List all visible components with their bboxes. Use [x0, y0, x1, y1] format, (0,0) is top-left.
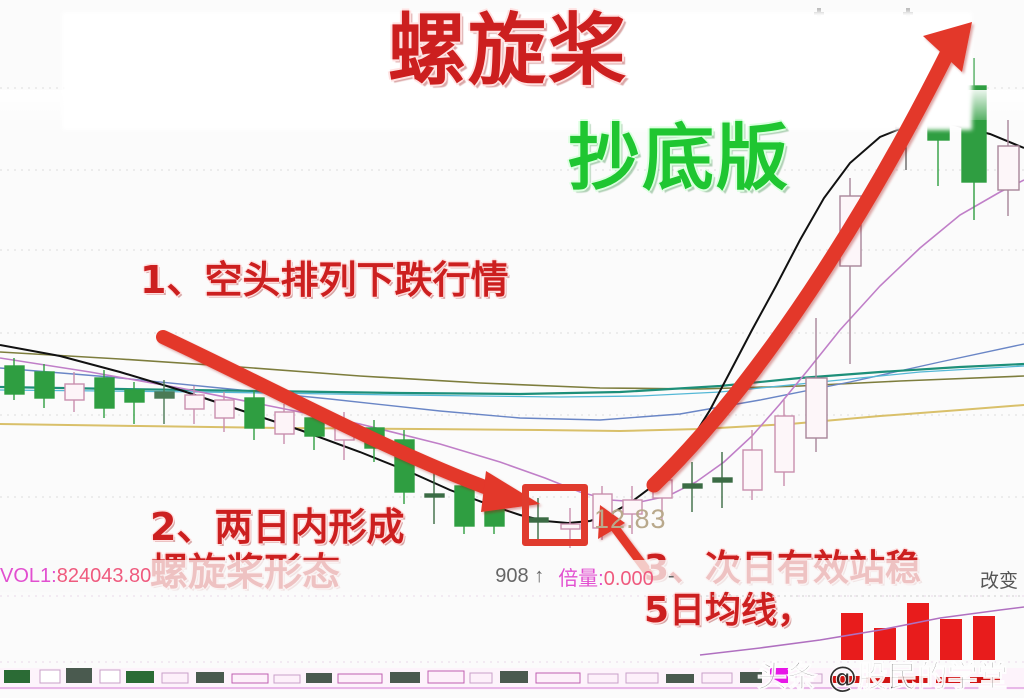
- price-label: 12.83: [594, 504, 667, 535]
- chart-status-bar: VOL1:824043.80 908 ↑ 倍量:0.000 -: [0, 560, 1024, 592]
- candle: [275, 404, 294, 444]
- annotation-2-line1: 2、两日内形成: [150, 505, 404, 550]
- candle: [840, 178, 861, 364]
- candle: [305, 410, 324, 450]
- candle: [683, 462, 702, 512]
- ma10-line: [0, 180, 1024, 502]
- candle: [155, 380, 174, 424]
- ma30-line: [0, 364, 1024, 394]
- count-value: 908: [495, 565, 528, 587]
- candle: [125, 382, 144, 424]
- screenshot-canvas: 螺旋桨 抄底版 12.83 1、空头排列下跌行情 2、两日内形成 螺旋桨形: [0, 0, 1024, 698]
- statusbar-right-text: 改变: [980, 566, 1018, 593]
- candle: [713, 452, 732, 508]
- ma5-line: [0, 124, 1024, 523]
- count-indicator: 908 ↑: [495, 565, 544, 588]
- candle: [998, 120, 1019, 216]
- volume-label: VOL1:: [0, 565, 57, 587]
- candle: [35, 364, 54, 408]
- candle: [395, 430, 414, 504]
- candle: [455, 478, 474, 534]
- page-title-sub: 抄底版: [568, 122, 790, 194]
- volume-indicator: VOL1:824043.80: [0, 565, 151, 588]
- annotation-1-text: 1、空头排列下跌行情: [140, 258, 508, 303]
- candle: [365, 420, 384, 462]
- candle: [245, 390, 264, 440]
- candle: [215, 392, 234, 432]
- down-trend-arrow: [163, 337, 540, 512]
- ma120-line: [0, 352, 1024, 389]
- statusbar-dash: -: [668, 565, 675, 588]
- pattern-highlight-box: [522, 484, 588, 546]
- up-arrow-icon: ↑: [534, 565, 544, 587]
- multiplier-label: 倍量:: [558, 568, 604, 590]
- candle: [775, 400, 794, 486]
- candle: [743, 430, 762, 500]
- candle: [806, 318, 827, 452]
- candle: [95, 370, 114, 418]
- candle: [5, 358, 24, 400]
- volume-value: 824043.80: [57, 565, 152, 587]
- ma-cyan-line: [0, 366, 1024, 397]
- candle: [485, 500, 504, 534]
- candle: [185, 386, 204, 424]
- annotation-3-line2: 5日均线，: [644, 590, 921, 632]
- ma20-line: [0, 405, 1024, 431]
- candle: [425, 466, 444, 524]
- candle: [335, 412, 354, 460]
- page-title-main: 螺旋桨: [388, 12, 628, 90]
- watermark-text: 头条 @股民的学堂: [757, 652, 1007, 696]
- candle: [65, 372, 84, 412]
- multiplier-value: 0.000: [604, 568, 654, 590]
- ma60-line: [0, 344, 1024, 420]
- multiplier-indicator: 倍量:0.000: [558, 562, 654, 591]
